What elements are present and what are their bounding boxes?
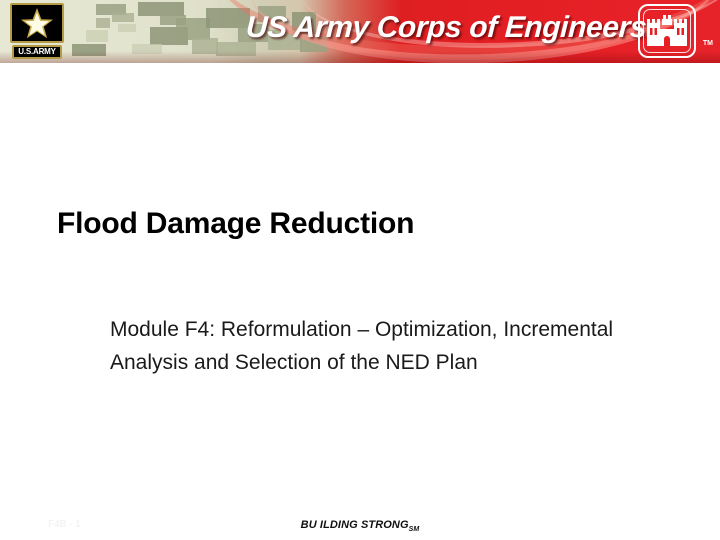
- army-logo-plate: [10, 3, 64, 43]
- tagline-service-mark: SM: [409, 526, 420, 533]
- trademark-mark: TM: [703, 40, 713, 47]
- us-army-logo: U.S.ARMY: [6, 3, 68, 60]
- army-wordmark: U.S.ARMY: [12, 45, 62, 59]
- building-strong-tagline: BU ILDING STRONGSM: [0, 519, 720, 533]
- usace-castle-icon: [646, 15, 688, 47]
- tagline-text: BU ILDING STRONG: [301, 519, 409, 531]
- slide-canvas: U.S.ARMY US Army Corps of Engineers: [0, 0, 720, 540]
- banner-bottom-shadow: [0, 51, 720, 63]
- page-subtitle: Module F4: Reformulation – Optimization,…: [110, 313, 620, 379]
- usace-castle-logo: [638, 4, 696, 58]
- usace-header-banner: U.S.ARMY US Army Corps of Engineers: [0, 0, 720, 63]
- army-star-icon: [20, 7, 54, 41]
- banner-title: US Army Corps of Engineers: [245, 11, 647, 45]
- page-title: Flood Damage Reduction: [57, 207, 414, 241]
